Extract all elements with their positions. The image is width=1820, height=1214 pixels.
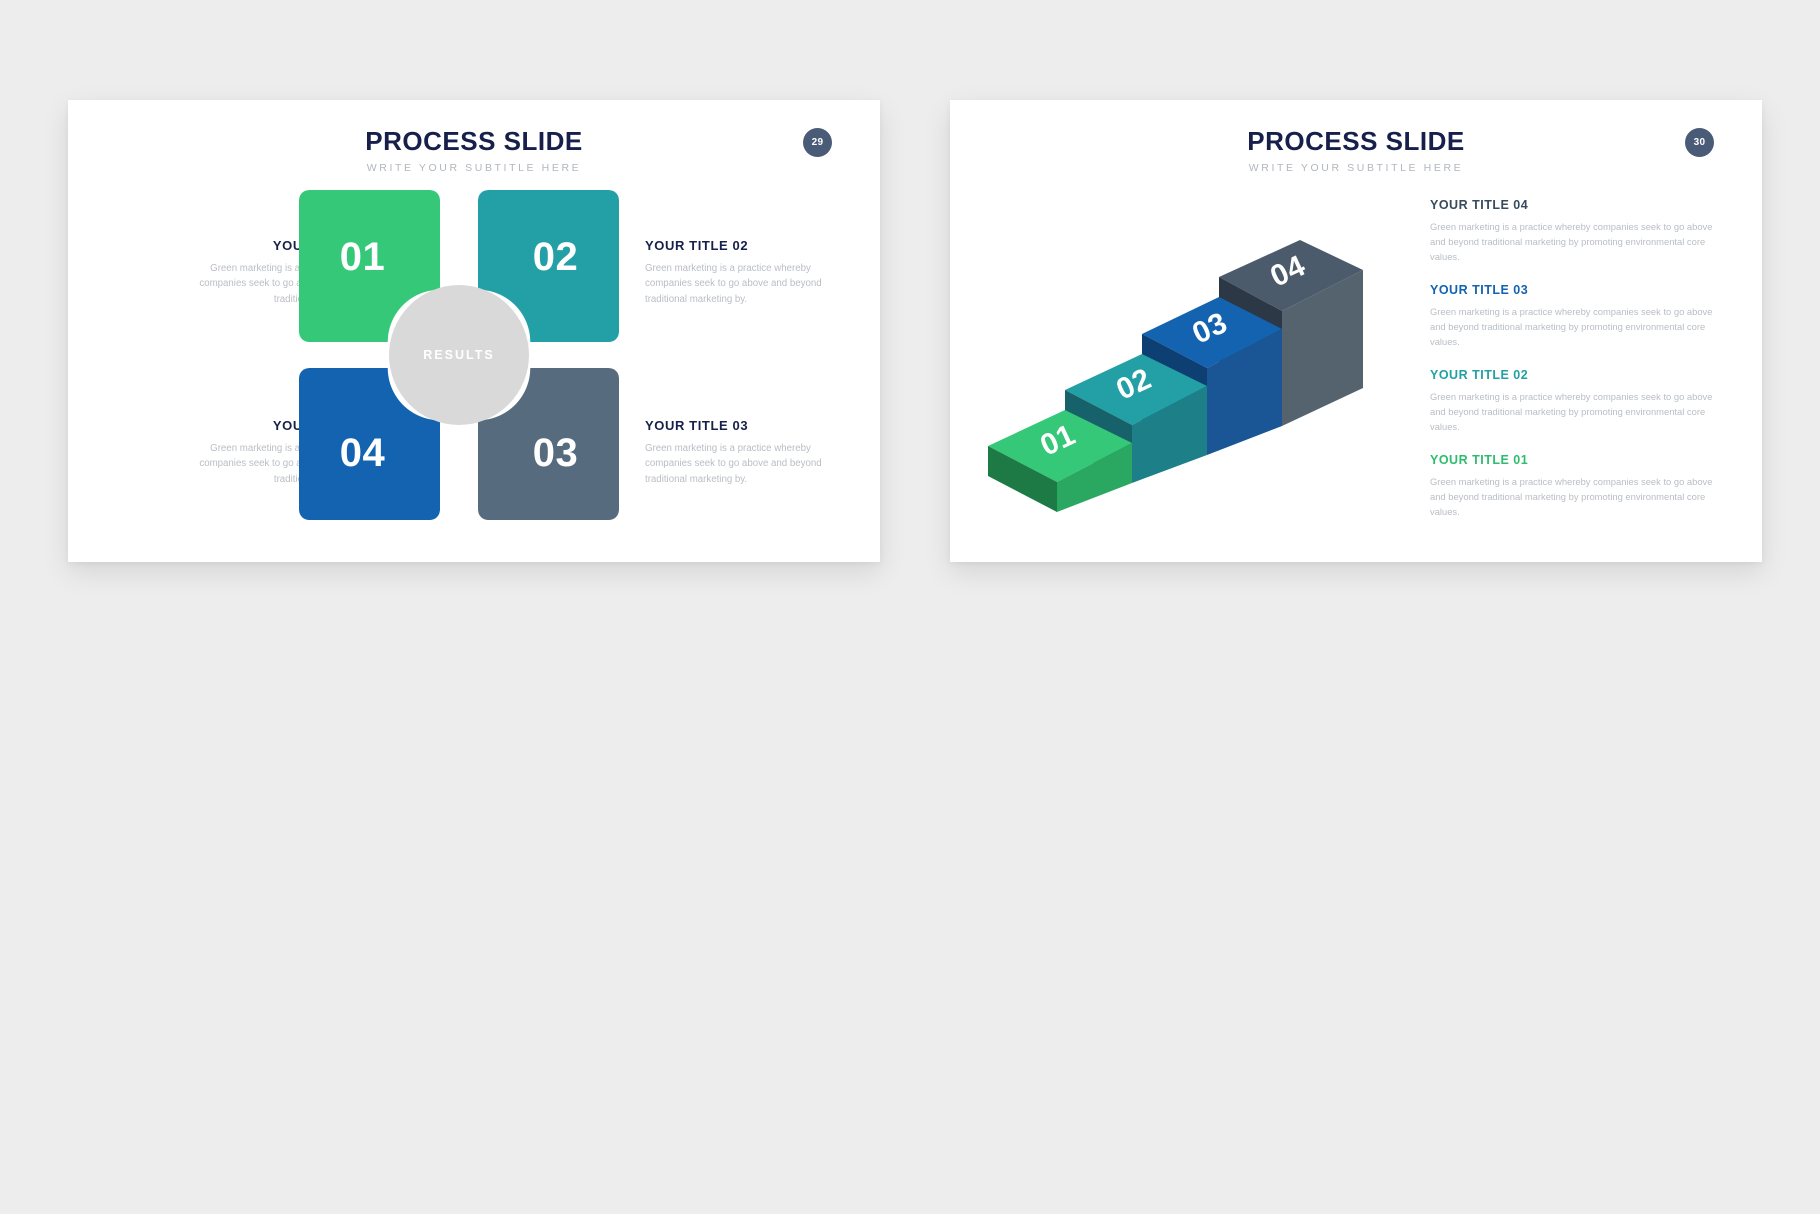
item-body: Green marketing is a practice whereby co… — [1430, 389, 1718, 435]
caption-title-03: YOUR TITLE 03 Green marketing is a pract… — [645, 418, 835, 487]
list-item-02: YOUR TITLE 02 Green marketing is a pract… — [1430, 368, 1718, 435]
page-title: PROCESS SLIDE — [68, 126, 880, 157]
page-number-badge: 29 — [803, 128, 832, 157]
caption-heading: YOUR TITLE 03 — [645, 418, 835, 433]
process-wheel-diagram: 01 02 04 03 RESULTS — [299, 190, 619, 520]
quadrant-number: 04 — [340, 431, 386, 476]
item-body: Green marketing is a practice whereby co… — [1430, 219, 1718, 265]
isometric-staircase-diagram: 04 03 02 — [970, 230, 1400, 530]
slide-process-stairs[interactable]: PROCESS SLIDE WRITE YOUR SUBTITLE HERE 3… — [950, 100, 1762, 562]
caption-heading: YOUR TITLE 02 — [645, 238, 835, 253]
page-subtitle: WRITE YOUR SUBTITLE HERE — [68, 162, 880, 174]
item-body: Green marketing is a practice whereby co… — [1430, 304, 1718, 350]
wheel-hub[interactable]: RESULTS — [389, 285, 529, 425]
list-item-01: YOUR TITLE 01 Green marketing is a pract… — [1430, 453, 1718, 520]
quadrant-number: 01 — [340, 235, 386, 280]
item-heading: YOUR TITLE 02 — [1430, 368, 1718, 382]
page-title: PROCESS SLIDE — [950, 126, 1762, 157]
slide-process-wheel[interactable]: PROCESS SLIDE WRITE YOUR SUBTITLE HERE 2… — [68, 100, 880, 562]
item-heading: YOUR TITLE 04 — [1430, 198, 1718, 212]
quadrant-number: 03 — [533, 431, 579, 476]
quadrant-number: 02 — [533, 235, 579, 280]
caption-body: Green marketing is a practice whereby co… — [645, 261, 835, 307]
list-item-03: YOUR TITLE 03 Green marketing is a pract… — [1430, 283, 1718, 350]
hub-label: RESULTS — [423, 348, 494, 362]
list-item-04: YOUR TITLE 04 Green marketing is a pract… — [1430, 198, 1718, 265]
page-number-badge: 30 — [1685, 128, 1714, 157]
item-heading: YOUR TITLE 01 — [1430, 453, 1718, 467]
page-subtitle: WRITE YOUR SUBTITLE HERE — [950, 162, 1762, 174]
item-heading: YOUR TITLE 03 — [1430, 283, 1718, 297]
slide-gallery-canvas: PROCESS SLIDE WRITE YOUR SUBTITLE HERE 2… — [0, 0, 1820, 1214]
item-body: Green marketing is a practice whereby co… — [1430, 474, 1718, 520]
caption-body: Green marketing is a practice whereby co… — [645, 441, 835, 487]
caption-title-02: YOUR TITLE 02 Green marketing is a pract… — [645, 238, 835, 307]
